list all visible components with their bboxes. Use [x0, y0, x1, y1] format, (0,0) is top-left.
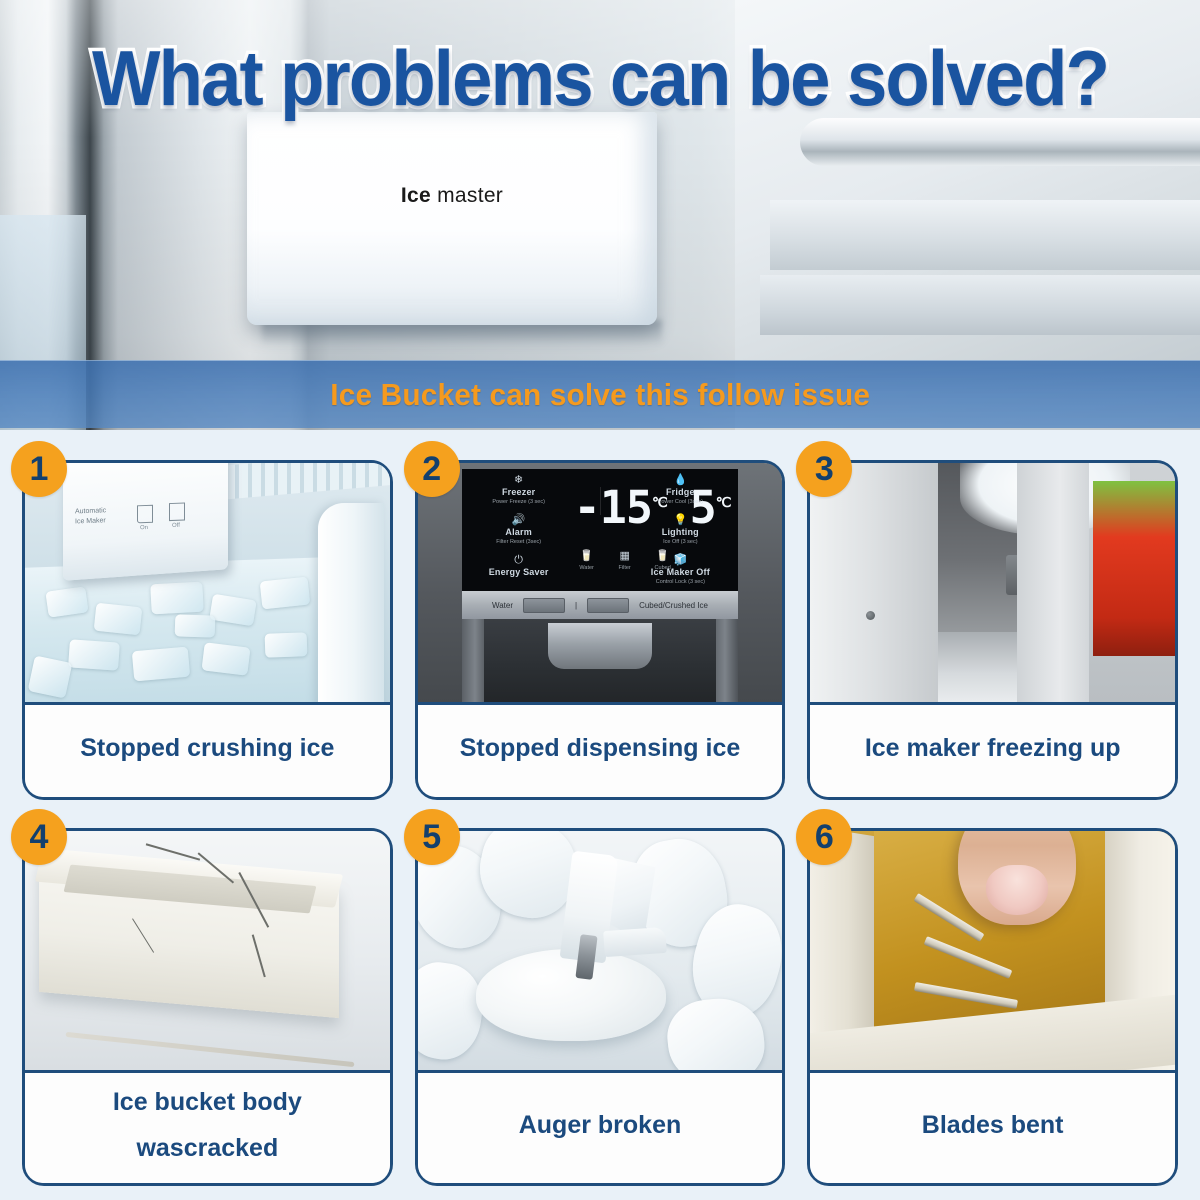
selector-separator: | — [575, 601, 577, 610]
water-paddle-button[interactable] — [523, 598, 565, 613]
automatic-ice-maker-unit: Automatic Ice Maker On Off — [63, 463, 228, 581]
control-panel-display: ❄ Freezer Power Freeze (3 sec) 🔊 Alarm F… — [462, 469, 739, 591]
card-photo-ice-maker-freezing-up — [810, 463, 1175, 705]
card-caption-5: Auger broken — [418, 1073, 783, 1183]
dispenser-water-label: Water — [492, 601, 513, 610]
problem-card-grid: 1 — [0, 432, 1200, 1200]
card-caption-6: Blades bent — [810, 1073, 1175, 1183]
card-caption-text-3: Ice maker freezing up — [865, 725, 1121, 771]
card-badge-6: 6 — [796, 809, 852, 865]
freezer-icon: ❄ — [476, 475, 562, 485]
problem-card-6[interactable]: 6 Blades bent — [807, 828, 1178, 1186]
lighting-bulb-icon: 💡 — [632, 515, 728, 525]
problem-card-2[interactable]: 2 ❄ Freezer Power Freeze (3 sec) 🔊 Alarm — [415, 460, 786, 800]
panel-water-button[interactable]: 🥛 Water — [570, 551, 604, 573]
card-caption-3: Ice maker freezing up — [810, 705, 1175, 797]
switch-on-label: On — [140, 525, 148, 531]
ice-maker-off-icon: 🧊 — [626, 555, 734, 565]
card-badge-4: 4 — [11, 809, 67, 865]
fingernail — [986, 865, 1048, 915]
ice-master-logo: Ice master — [247, 184, 657, 208]
dispenser-ice-label: Cubed/Crushed Ice — [639, 601, 708, 610]
dispenser-selector-bar: Water | Cubed/Crushed Ice — [462, 591, 739, 619]
ice-maker-unit-label: Automatic Ice Maker — [75, 506, 106, 527]
card-badge-5: 5 — [404, 809, 460, 865]
card-badge-3: 3 — [796, 441, 852, 497]
problem-card-3[interactable]: 3 Ice maker freezing up — [807, 460, 1178, 800]
display-divider — [600, 487, 601, 515]
card-caption-text-5: Auger broken — [519, 1102, 682, 1148]
logo-light-text: master — [431, 184, 503, 207]
card-caption-1: Stopped crushing ice — [25, 705, 390, 797]
problem-card-5[interactable]: 5 Auger broken — [415, 828, 786, 1186]
auger-hub — [476, 949, 666, 1041]
card-caption-text-1: Stopped crushing ice — [80, 725, 334, 771]
subtitle-banner: Ice Bucket can solve this follow issue — [0, 360, 1200, 428]
fridge-door-shelf-lower — [760, 275, 1200, 335]
frost-floor — [938, 632, 1017, 702]
freezer-door-panel-left — [810, 463, 938, 702]
card-caption-text-2: Stopped dispensing ice — [460, 725, 741, 771]
food-package — [1093, 481, 1175, 656]
page-title: What problems can be solved? — [42, 38, 1158, 118]
fridge-door-shelf-upper — [770, 200, 1200, 270]
ice-paddle-button[interactable] — [587, 598, 629, 613]
infographic-page: Ice master What problems can be solved? … — [0, 0, 1200, 1200]
card-caption-2: Stopped dispensing ice — [418, 705, 783, 797]
panel-fridge-button[interactable]: 💧 Fridge Power Cool (3sec) — [632, 475, 728, 507]
card-photo-ice-bucket-cracked — [25, 831, 390, 1073]
panel-freezer-button[interactable]: ❄ Freezer Power Freeze (3 sec) — [476, 475, 562, 507]
card-badge-1: 1 — [11, 441, 67, 497]
problem-card-1[interactable]: 1 — [22, 460, 393, 800]
switch-off-label: Off — [172, 523, 180, 529]
alarm-speaker-icon: 🔊 — [476, 515, 562, 525]
subtitle-text: Ice Bucket can solve this follow issue — [330, 377, 870, 413]
card-caption-text-4: Ice bucket body wascracked — [39, 1079, 376, 1171]
panel-energy-saver-button[interactable]: ⏻ Energy Saver — [470, 555, 568, 577]
ice-bucket-rail — [66, 1032, 355, 1067]
panel-alarm-button[interactable]: 🔊 Alarm Filter Reset (3sec) — [476, 515, 562, 547]
card-caption-text-6: Blades bent — [922, 1102, 1064, 1148]
auger-vane — [603, 927, 667, 957]
card-photo-blades-bent — [810, 831, 1175, 1073]
panel-lighting-button[interactable]: 💡 Lighting Ice Off (3 sec) — [632, 515, 728, 547]
hero-section: Ice master What problems can be solved? … — [0, 0, 1200, 430]
fridge-droplet-icon: 💧 — [632, 475, 728, 485]
panel-ice-maker-off-button[interactable]: 🧊 Ice Maker Off Control Lock (3 sec) — [626, 555, 734, 587]
fridge-door-handle — [800, 118, 1200, 166]
card-photo-stopped-dispensing-ice: ❄ Freezer Power Freeze (3 sec) 🔊 Alarm F… — [418, 463, 783, 705]
water-glass-icon: 🥛 — [570, 551, 604, 561]
problem-card-4[interactable]: 4 Ice bucket body wascracked — [22, 828, 393, 1186]
dispenser-spout — [548, 623, 652, 669]
card-badge-2: 2 — [404, 441, 460, 497]
logo-bold-text: Ice — [401, 184, 431, 207]
card-photo-stopped-crushing-ice: Automatic Ice Maker On Off — [25, 463, 390, 705]
ice-master-unit: Ice master — [247, 112, 657, 325]
freezer-door-panel-right — [1017, 463, 1089, 702]
card-caption-4: Ice bucket body wascracked — [25, 1073, 390, 1183]
switch-on-icon — [137, 505, 153, 524]
switch-off-icon — [169, 503, 185, 522]
bin-wall — [318, 503, 384, 705]
card-photo-auger-broken — [418, 831, 783, 1073]
energy-saver-icon: ⏻ — [470, 555, 568, 565]
